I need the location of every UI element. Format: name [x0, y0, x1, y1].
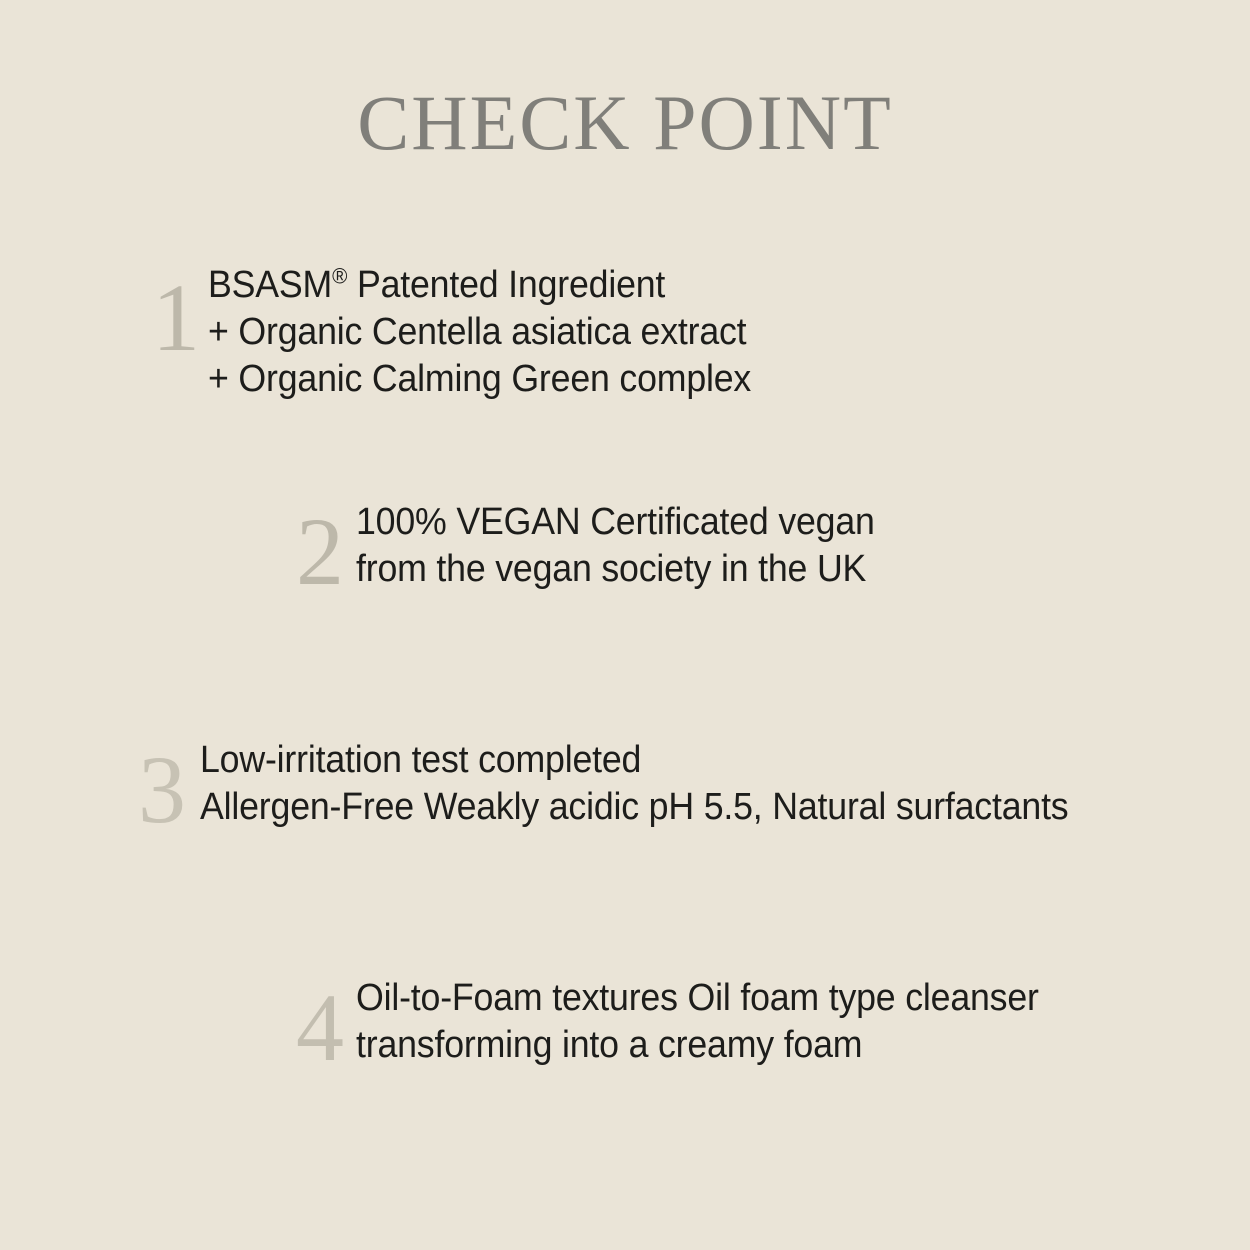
- item-2-line-2: from the vegan society in the UK: [356, 546, 875, 593]
- item-1-line-3: + Organic Calming Green complex: [208, 356, 751, 403]
- item-text-2: 100% VEGAN Certificated vegan from the v…: [356, 499, 875, 593]
- item-1-brand: BSASM: [208, 264, 332, 306]
- registered-trademark-icon: ®: [332, 263, 347, 288]
- check-point-item-3: 3 Low-irritation test completed Allergen…: [138, 732, 1124, 828]
- item-number-2: 2: [296, 504, 344, 600]
- check-point-page: CHECK POINT 1 BSASM® Patented Ingredient…: [0, 0, 1250, 1250]
- item-1-line-1-rest: Patented Ingredient: [347, 264, 665, 306]
- item-text-3: Low-irritation test completed Allergen-F…: [200, 737, 1068, 831]
- check-point-item-2: 2 100% VEGAN Certificated vegan from the…: [296, 494, 908, 590]
- item-1-line-1: BSASM® Patented Ingredient: [208, 262, 751, 309]
- item-text-1: BSASM® Patented Ingredient + Organic Cen…: [208, 262, 751, 403]
- item-4-line-2: transforming into a creamy foam: [356, 1022, 1039, 1069]
- item-1-line-2: + Organic Centella asiatica extract: [208, 309, 751, 356]
- check-point-item-1: 1 BSASM® Patented Ingredient + Organic C…: [152, 258, 786, 399]
- item-number-4: 4: [296, 980, 344, 1076]
- item-number-1: 1: [152, 270, 200, 366]
- item-3-line-2: Allergen-Free Weakly acidic pH 5.5, Natu…: [200, 784, 1068, 831]
- item-number-3: 3: [138, 742, 186, 838]
- item-4-line-1: Oil-to-Foam textures Oil foam type clean…: [356, 975, 1039, 1022]
- item-text-4: Oil-to-Foam textures Oil foam type clean…: [356, 975, 1039, 1069]
- item-3-line-1: Low-irritation test completed: [200, 737, 1068, 784]
- check-point-list: 1 BSASM® Patented Ingredient + Organic C…: [0, 0, 1250, 1250]
- check-point-item-4: 4 Oil-to-Foam textures Oil foam type cle…: [296, 970, 1082, 1066]
- item-2-line-1: 100% VEGAN Certificated vegan: [356, 499, 875, 546]
